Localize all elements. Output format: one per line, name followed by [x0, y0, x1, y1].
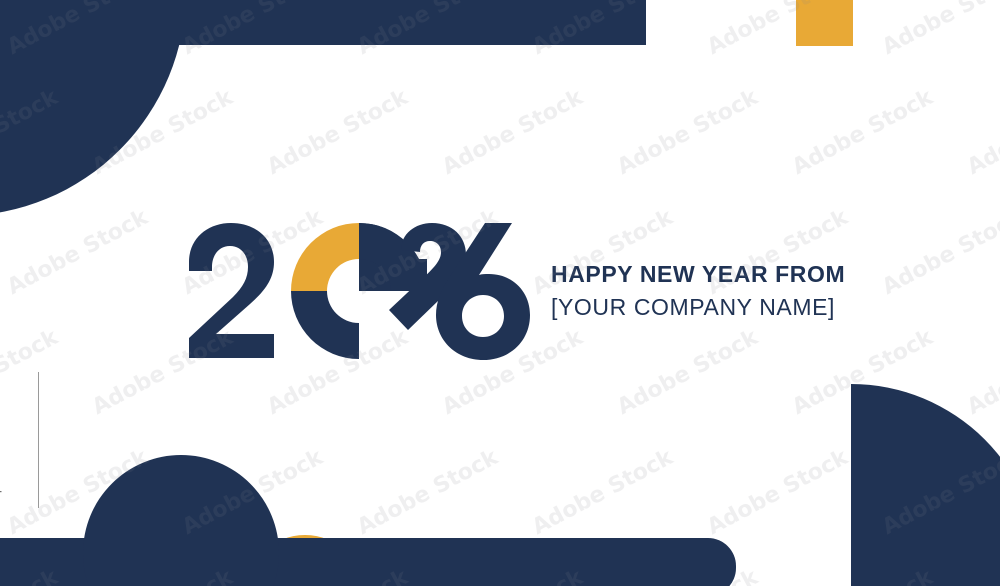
greeting-line-1: HAPPY NEW YEAR FROM: [551, 258, 845, 291]
bottom-right-quarter-circle: [851, 384, 1000, 586]
watermark-tile: Adobe Stock: [703, 445, 852, 540]
bottom-left-circle: [83, 455, 279, 586]
watermark-tile: Adobe Stock: [3, 205, 152, 300]
credit-separator-rule: [38, 372, 39, 508]
watermark-tile: Adobe Stock: [438, 85, 587, 180]
watermark-tile: Adobe Stock: [353, 445, 502, 540]
greeting-line-2: [YOUR COMPANY NAME]: [551, 291, 845, 324]
watermark-tile: Adobe Stock: [613, 325, 762, 420]
watermark-tile: Adobe Stock: [878, 0, 1000, 60]
watermark-tile: Adobe Stock: [878, 205, 1000, 300]
watermark-credit-label: Adobe Stock | #1746453748: [0, 398, 2, 574]
banner-canvas: HAPPY NEW YEAR FROM [YOUR COMPANY NAME] …: [0, 0, 1000, 586]
watermark-tile: Adobe Stock: [263, 85, 412, 180]
watermark-tile: Adobe Stock: [788, 85, 937, 180]
top-bar: [150, 0, 646, 45]
watermark-tile: Adobe Stock: [528, 445, 677, 540]
top-right-square: [796, 0, 853, 46]
watermark-tile: Adobe Stock: [963, 85, 1000, 180]
year-lockup-2026: [186, 222, 536, 362]
watermark-tile: Adobe Stock: [0, 325, 62, 420]
watermark-tile: Adobe Stock: [613, 85, 762, 180]
greeting-text-block: HAPPY NEW YEAR FROM [YOUR COMPANY NAME]: [551, 258, 845, 324]
watermark-tile: Adobe Stock: [963, 325, 1000, 420]
digit-2-glyph: [189, 223, 274, 358]
